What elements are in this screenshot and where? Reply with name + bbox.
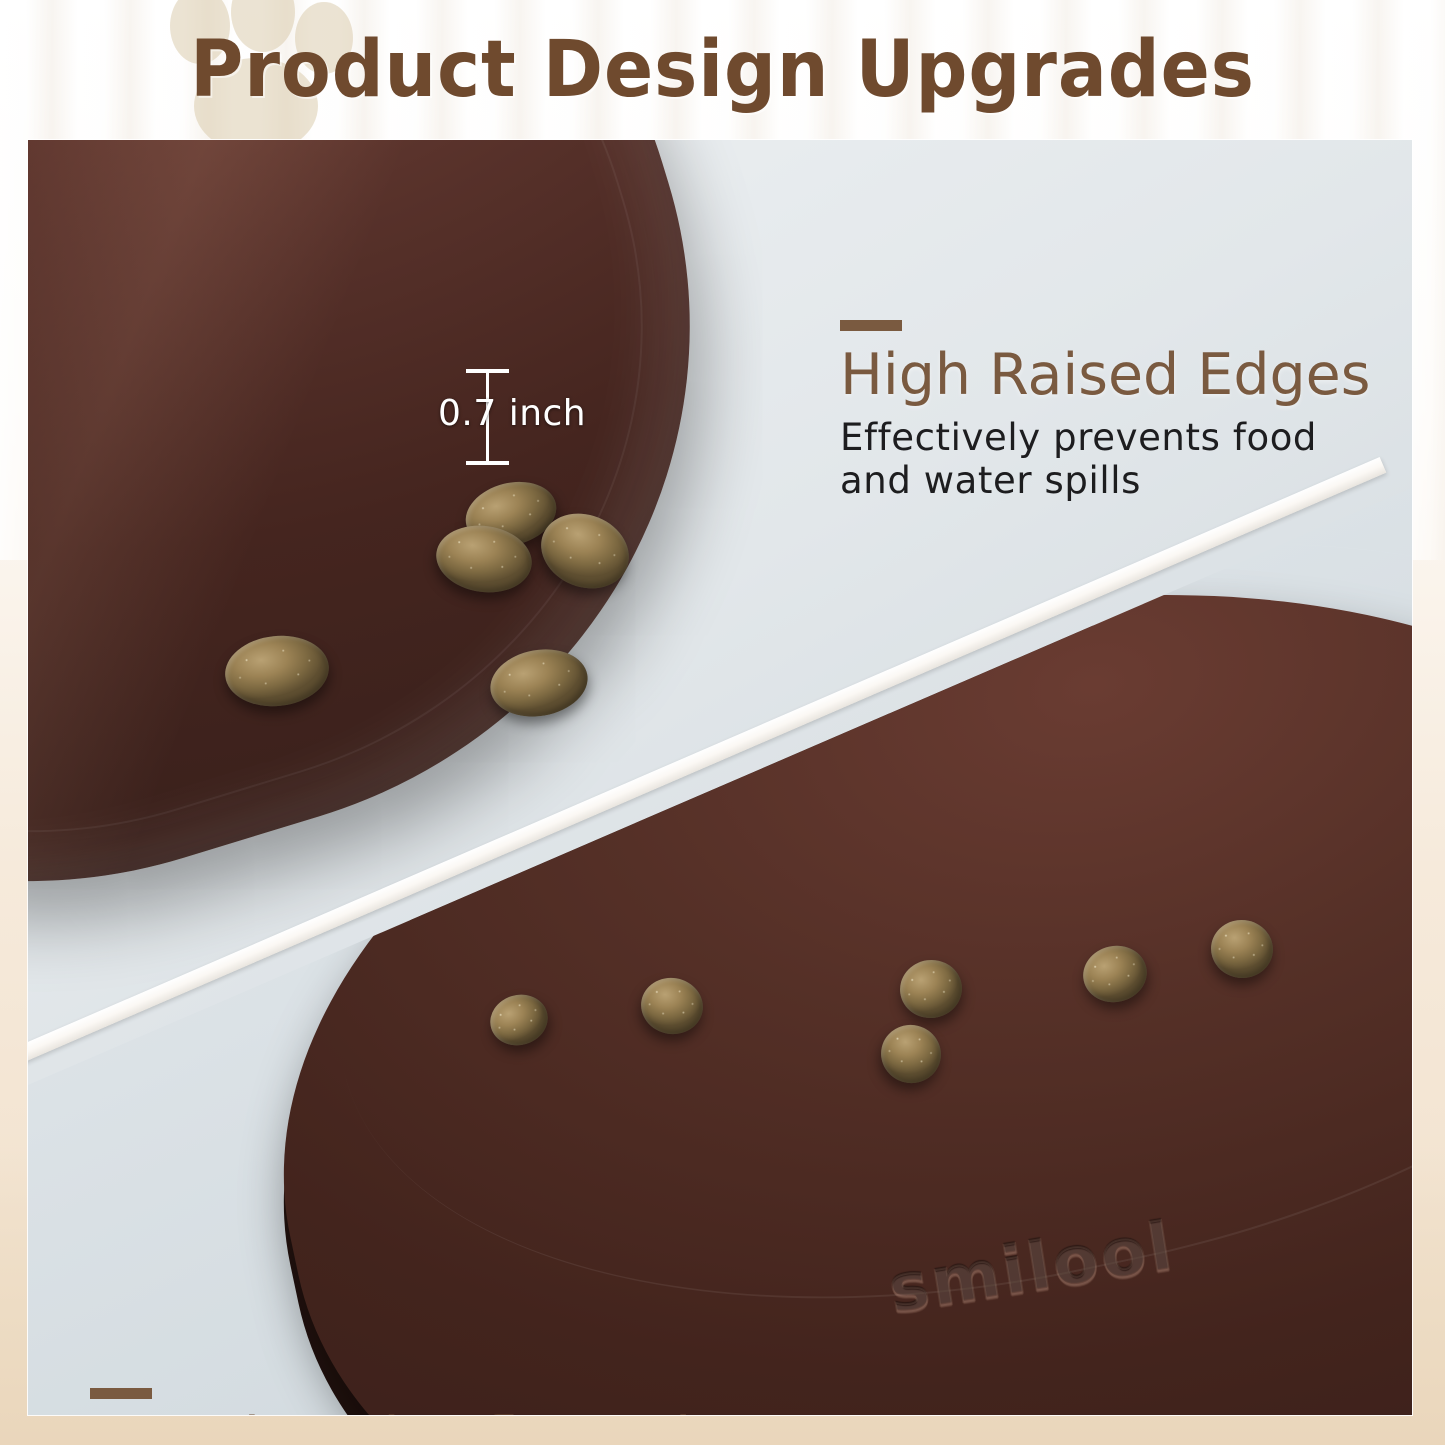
feature-keeping-floor-clean: Keeping the floor clean Minimizes time s…	[90, 1388, 1240, 1415]
feature-body: Effectively prevents food and water spil…	[840, 417, 1412, 503]
header: Product Design Upgrades	[0, 0, 1445, 140]
page-title: Product Design Upgrades	[51, 0, 1395, 140]
feature-body-line: Effectively prevents food	[840, 417, 1412, 460]
accent-dash	[90, 1388, 152, 1399]
accent-dash	[840, 320, 902, 331]
measure-cap-bottom	[466, 461, 509, 465]
product-infographic: Product Design Upgrades smilool	[0, 0, 1445, 1445]
feature-heading: High Raised Edges	[840, 345, 1412, 405]
measurement-callout: 0.7 inch	[438, 355, 608, 480]
feature-heading: Keeping the floor clean	[90, 1409, 1240, 1415]
measure-value: 0.7 inch	[438, 393, 608, 434]
feature-high-raised-edges: High Raised Edges Effectively prevents f…	[840, 320, 1412, 503]
feature-body-line: and water spills	[840, 460, 1412, 503]
product-photo-panel: smilool 0.7 inch High Raised Edges Effec…	[28, 140, 1412, 1415]
